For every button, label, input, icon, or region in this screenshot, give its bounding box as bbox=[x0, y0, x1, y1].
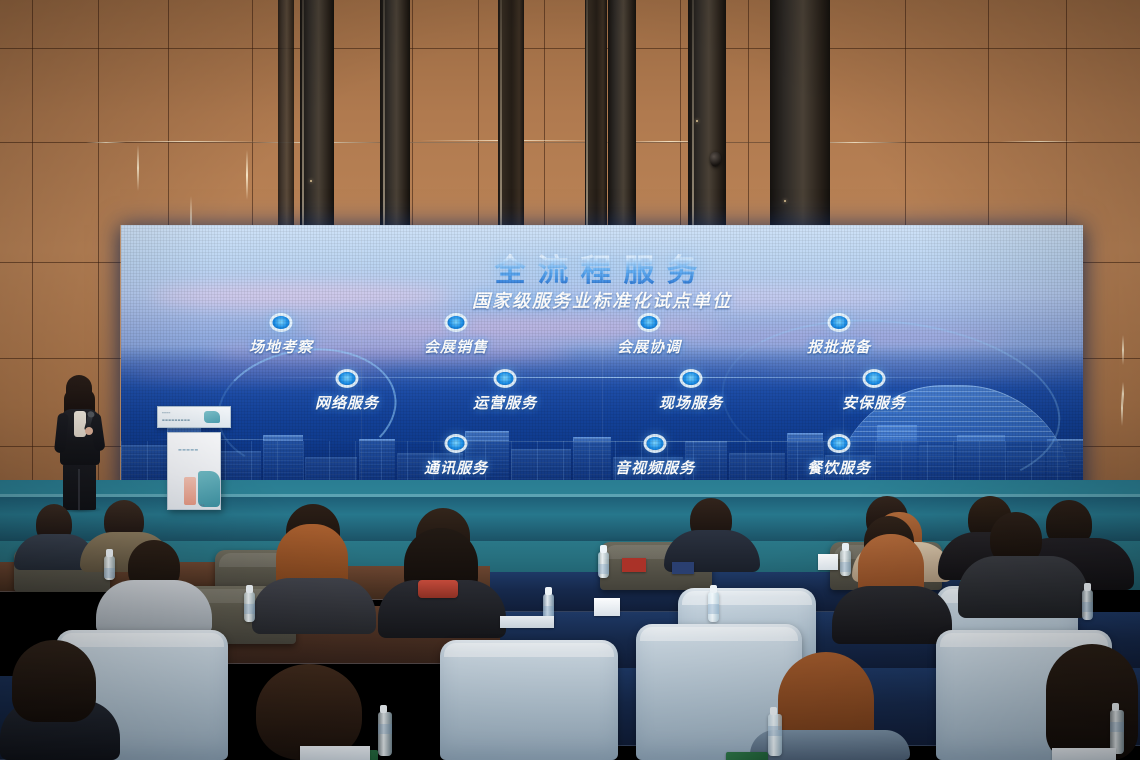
audience-head bbox=[12, 640, 96, 722]
scarf bbox=[418, 580, 458, 598]
audience-shoulders bbox=[252, 578, 376, 634]
water-bottle bbox=[104, 556, 115, 580]
audience-shoulders bbox=[96, 580, 212, 634]
water-bottle bbox=[244, 592, 255, 622]
water-bottle bbox=[840, 550, 851, 576]
name-card bbox=[672, 562, 694, 574]
water-bottle bbox=[708, 592, 719, 622]
paper-sheet bbox=[500, 616, 554, 628]
water-bottle bbox=[378, 712, 392, 756]
name-card bbox=[622, 558, 646, 572]
paper-sheet bbox=[1052, 748, 1116, 760]
water-bottle bbox=[768, 714, 782, 756]
conference-photo: 全流程服务 国家级服务业标准化试点单位 场地考察 会展销售 会展协调 报批报备 … bbox=[0, 0, 1140, 760]
paper-sheet bbox=[300, 746, 370, 760]
audience-head bbox=[1046, 644, 1138, 760]
audience-area bbox=[0, 0, 1140, 760]
water-bottle bbox=[598, 552, 609, 578]
name-card bbox=[818, 554, 838, 570]
name-card bbox=[594, 598, 620, 616]
audience-shoulders bbox=[832, 586, 952, 644]
phone[interactable] bbox=[726, 752, 768, 760]
water-bottle bbox=[1082, 590, 1093, 620]
chair bbox=[440, 640, 618, 760]
audience-shoulders bbox=[958, 556, 1088, 618]
